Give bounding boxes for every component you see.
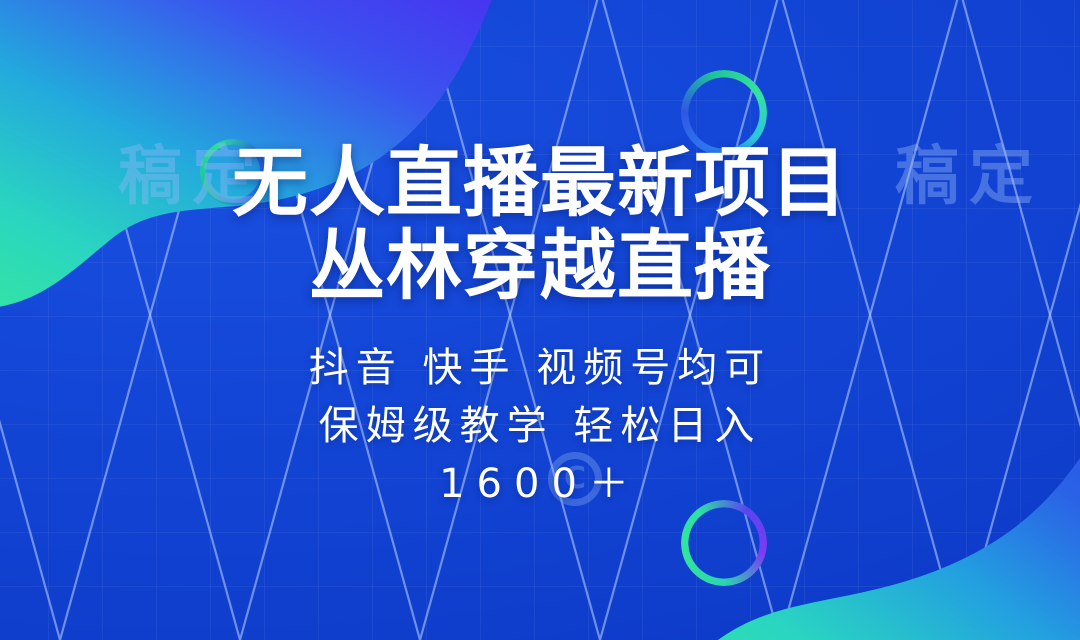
subtitle-line-2: 保姆级教学 轻松日入 bbox=[319, 397, 762, 455]
title-line-1: 无人直播最新项目 bbox=[232, 140, 848, 227]
promo-poster: 稿定 稿定 C 无人直播最新项目 丛林穿越直播 抖音 快手 视频号均可 保姆级教… bbox=[0, 0, 1080, 640]
subtitle-line-3-amount: 1600＋ bbox=[439, 455, 641, 513]
subtitle-line-1: 抖音 快手 视频号均可 bbox=[309, 339, 771, 397]
title-line-2: 丛林穿越直播 bbox=[309, 223, 771, 310]
poster-text-content: 无人直播最新项目 丛林穿越直播 抖音 快手 视频号均可 保姆级教学 轻松日入 1… bbox=[0, 0, 1080, 640]
